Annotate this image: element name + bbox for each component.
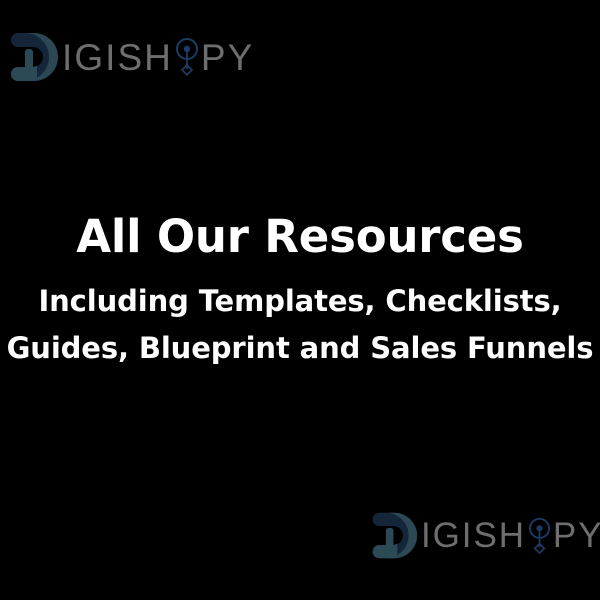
brand-wordmark: IGISH PY <box>62 35 254 79</box>
circle-node-icon <box>174 35 200 79</box>
stylized-d-mark-icon <box>4 26 60 88</box>
stylized-d-mark-icon <box>366 506 419 565</box>
brand-logo-watermark[interactable]: IGISH PY <box>366 506 600 565</box>
brand-wordmark: IGISH PY <box>421 515 600 557</box>
wordmark-second-part: PY <box>553 518 600 553</box>
subtitle-line-1: Including Templates, Checklists, <box>0 278 600 325</box>
subtitle-line-2: Guides, Blueprint and Sales Funnels <box>0 325 600 372</box>
wordmark-first-part: IGISH <box>421 518 526 553</box>
promo-banner: IGISH PY All Our Resources Including Tem… <box>0 0 600 600</box>
wordmark-second-part: PY <box>201 39 254 76</box>
page-title: All Our Resources <box>0 212 600 262</box>
wordmark-first-part: IGISH <box>62 39 173 76</box>
brand-logo-header[interactable]: IGISH PY <box>4 26 254 88</box>
hero-text-block: All Our Resources Including Templates, C… <box>0 212 600 372</box>
subtitle-group: Including Templates, Checklists, Guides,… <box>0 278 600 372</box>
circle-node-icon <box>527 515 552 557</box>
